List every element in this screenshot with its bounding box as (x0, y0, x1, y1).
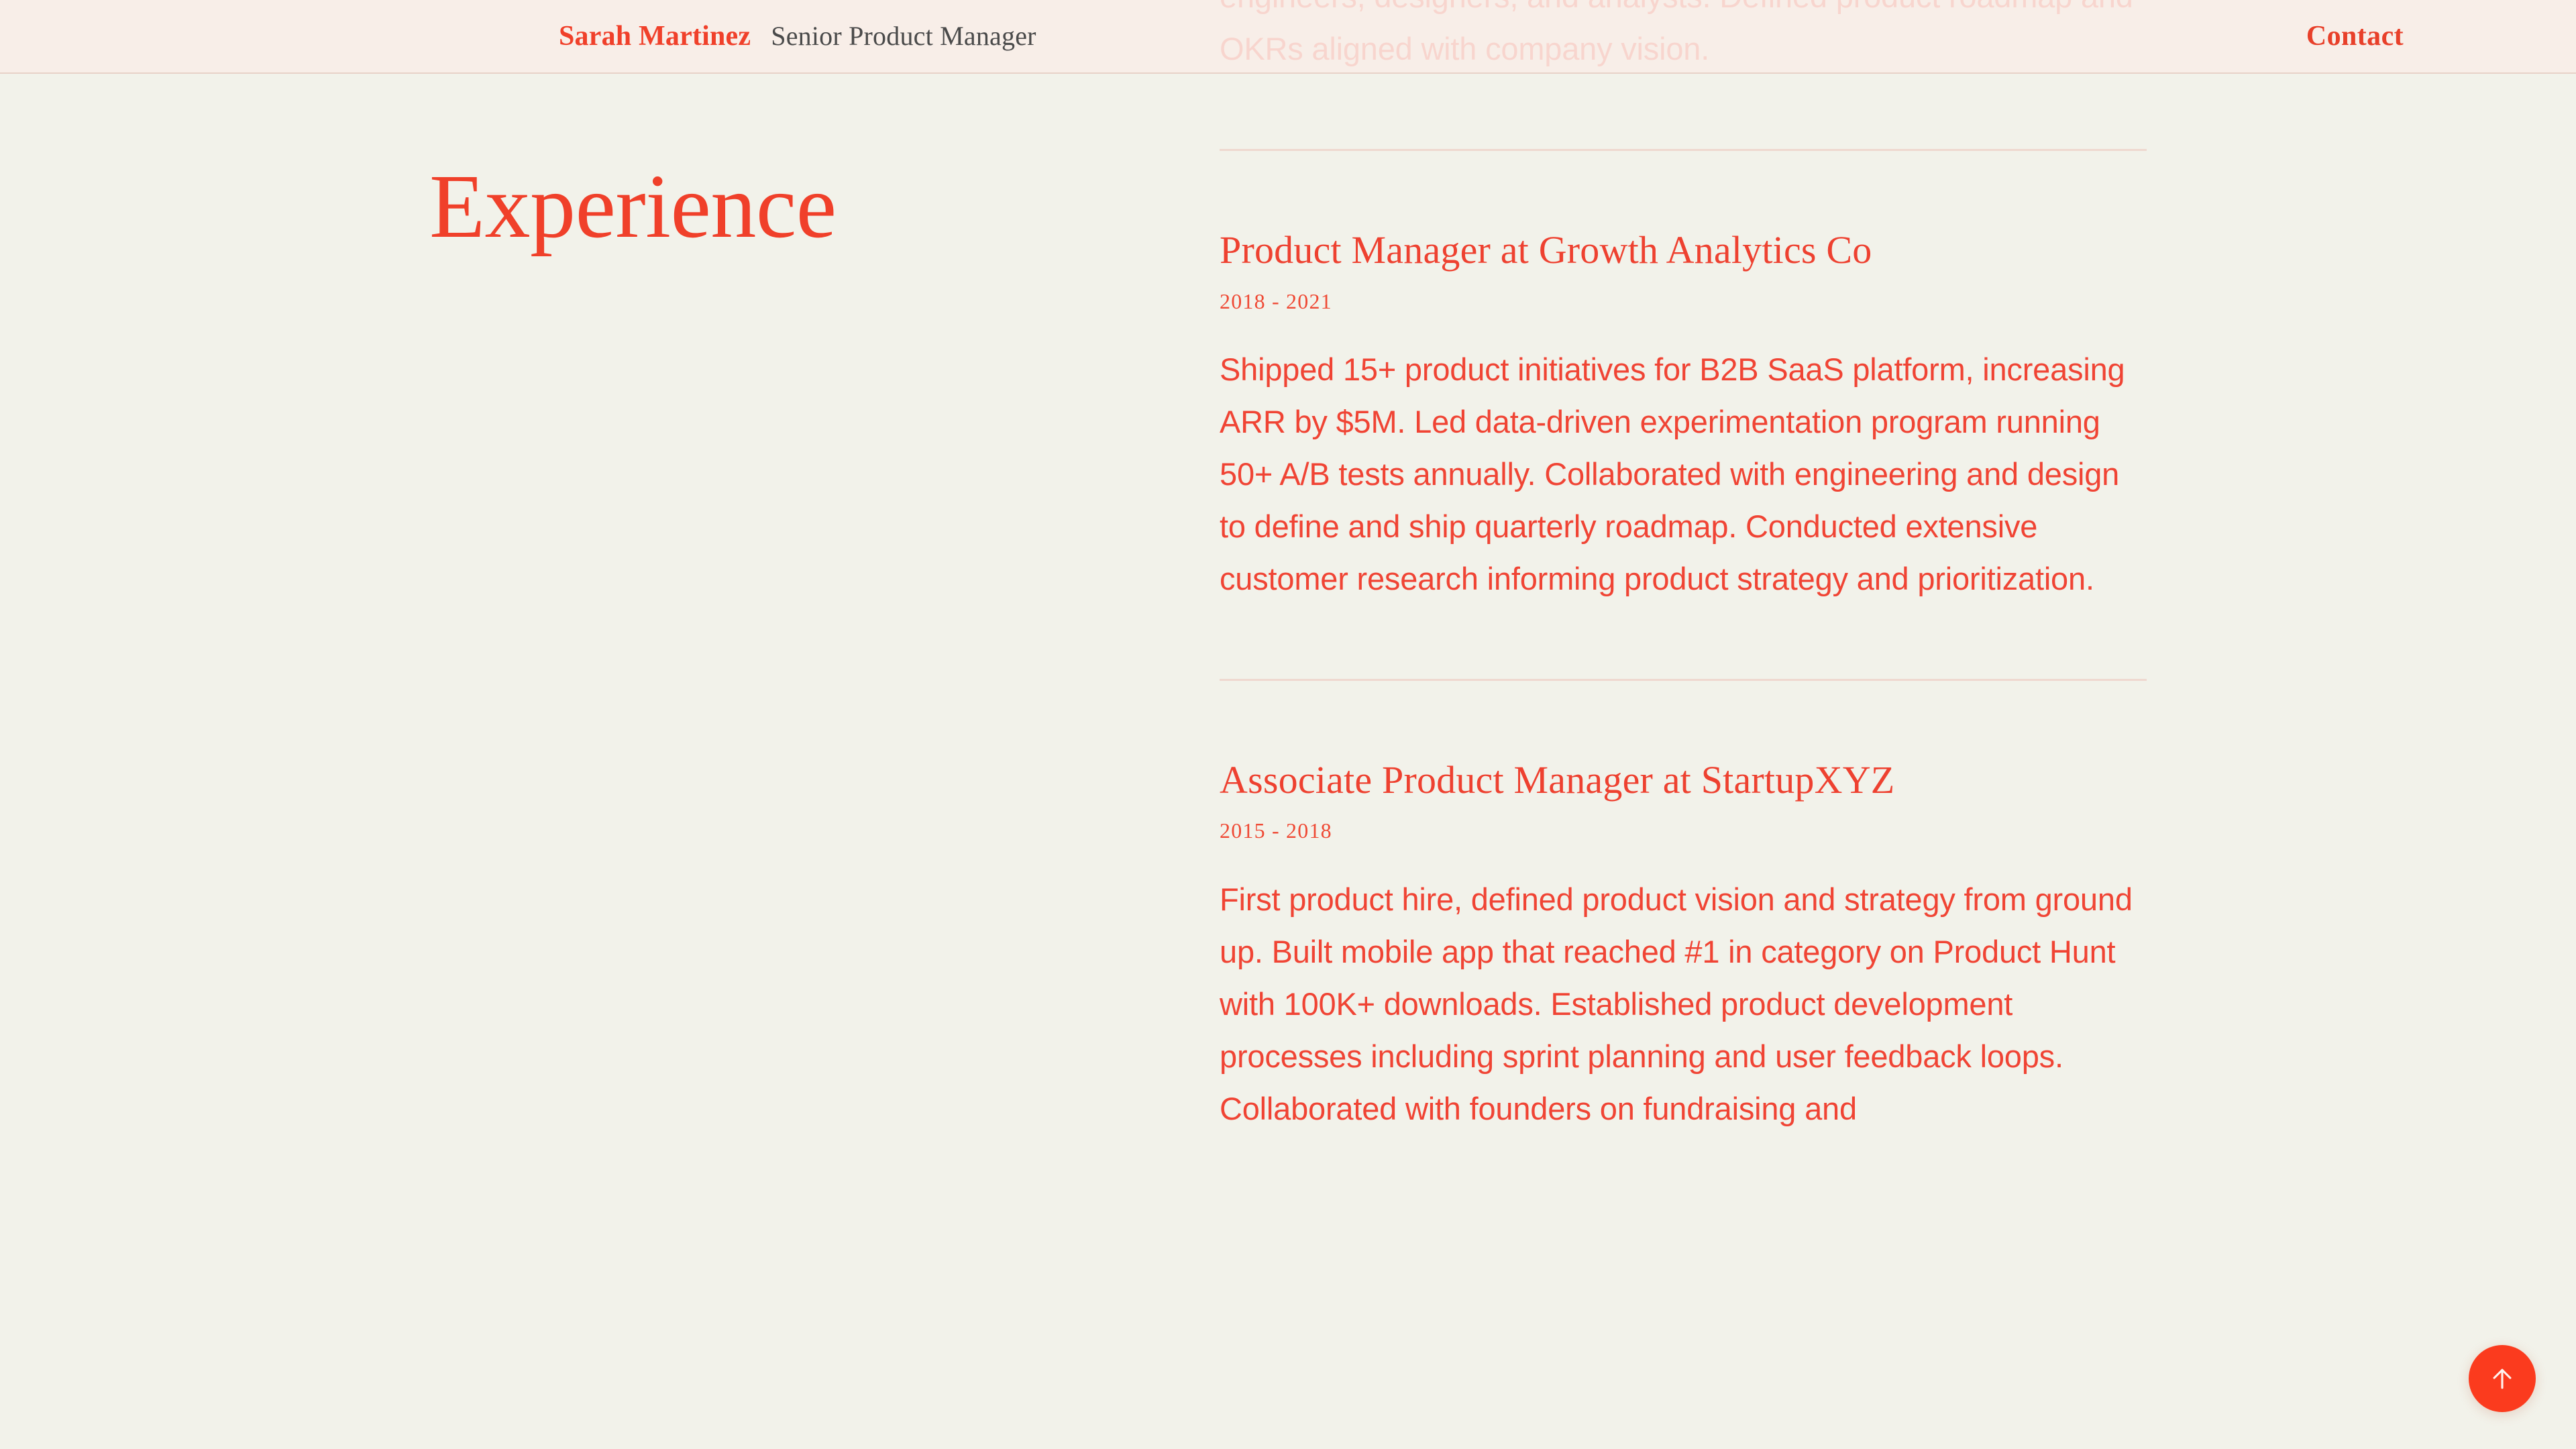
experience-column-left: Experience (429, 161, 1100, 252)
page-root: Experience engineers, designers, and ana… (0, 0, 2576, 1449)
entry-description: First product hire, defined product visi… (1220, 873, 2149, 1135)
spacer (1220, 681, 2149, 756)
experience-entry: Product Manager at Growth Analytics Co 2… (1220, 226, 2149, 605)
spacer (1220, 605, 2149, 679)
nav-link-contact[interactable]: Contact (2306, 21, 2404, 52)
brand-role: Senior Product Manager (771, 20, 1036, 52)
brand-block[interactable]: Sarah Martinez Senior Product Manager (559, 20, 1036, 52)
experience-entry-list: engineers, designers, and analysts. Defi… (1220, 0, 2149, 1135)
page-title: Experience (429, 161, 1100, 252)
arrow-up-icon (2487, 1364, 2517, 1393)
entry-role-title: Associate Product Manager at StartupXYZ (1220, 756, 2149, 805)
entry-role-title: Product Manager at Growth Analytics Co (1220, 226, 2149, 275)
brand-name[interactable]: Sarah Martinez (559, 20, 751, 52)
entry-description: Shipped 15+ product initiatives for B2B … (1220, 343, 2149, 605)
entry-date-range: 2018 - 2021 (1220, 288, 2149, 314)
spacer (1220, 151, 2149, 226)
experience-entry: Associate Product Manager at StartupXYZ … (1220, 756, 2149, 1135)
entry-date-range: 2015 - 2018 (1220, 818, 2149, 843)
primary-nav: Contact (2306, 20, 2576, 52)
spacer (1220, 75, 2149, 149)
scroll-to-top-button[interactable] (2469, 1345, 2536, 1412)
site-header: Sarah Martinez Senior Product Manager Co… (0, 0, 2576, 74)
